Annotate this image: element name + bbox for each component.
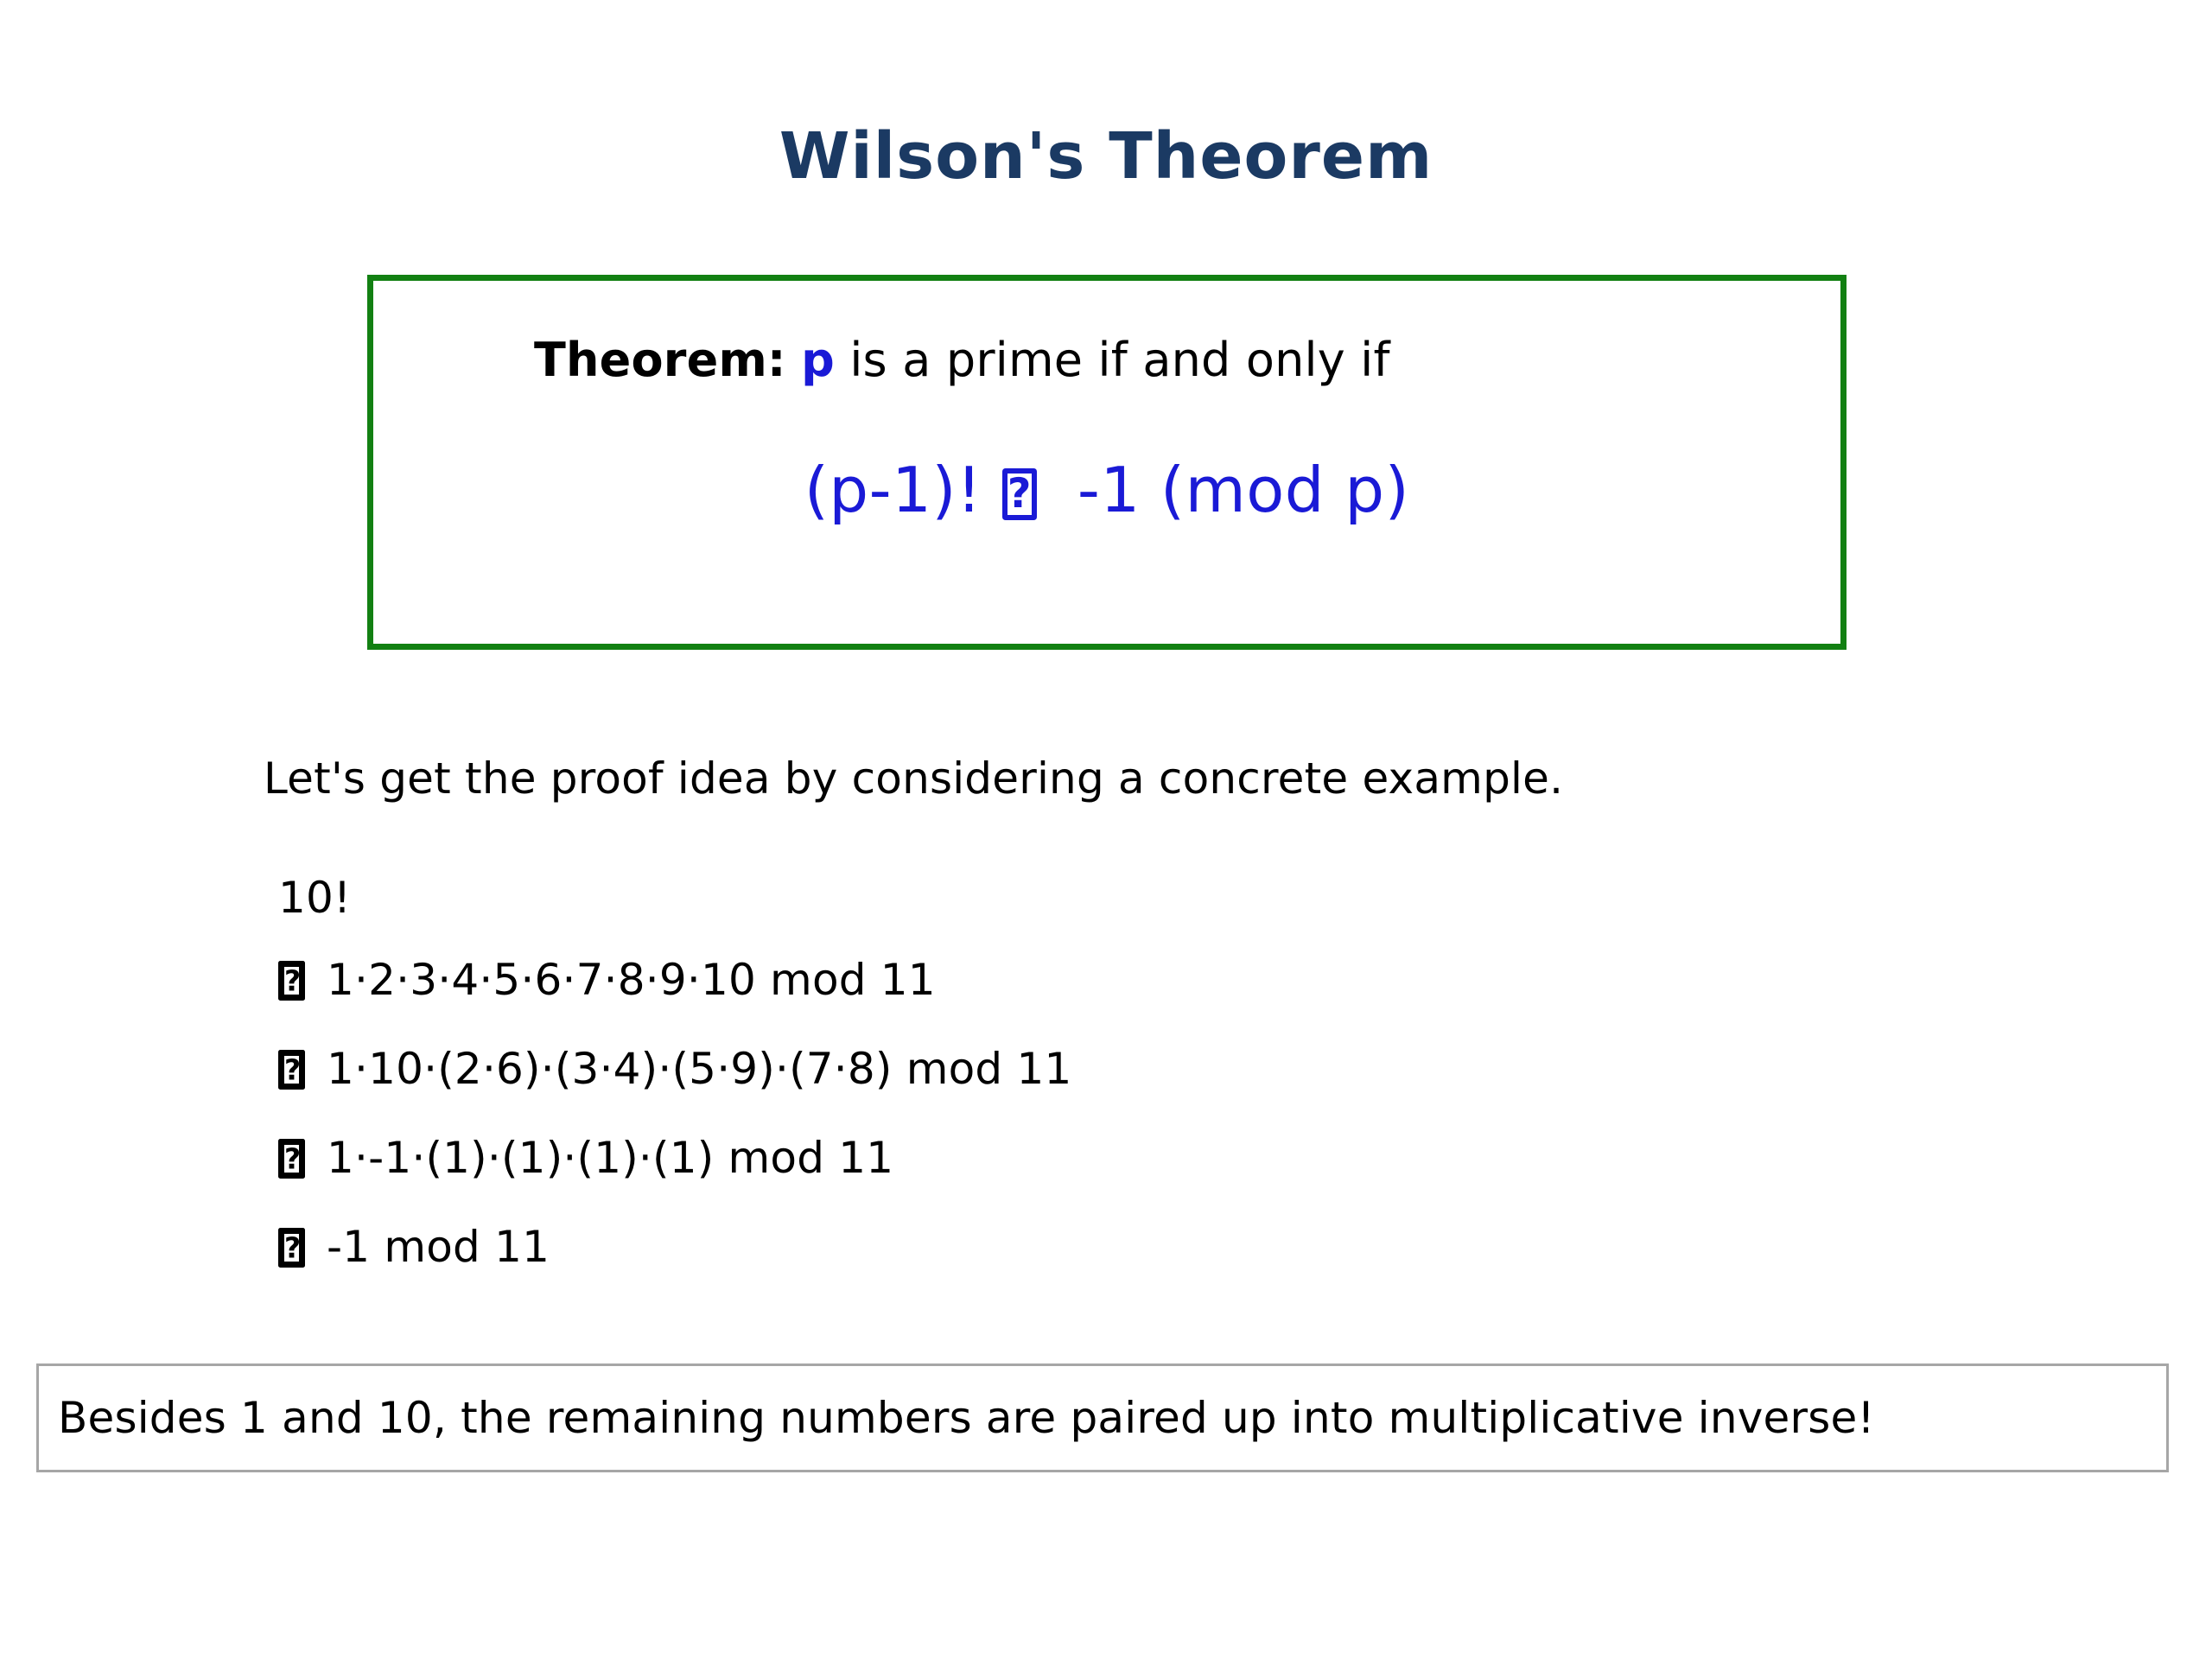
- congruence-missing-glyph-icon: [1002, 468, 1037, 520]
- lead-text: Let's get the proof idea by considering …: [264, 753, 1563, 804]
- theorem-variable-p: p: [801, 333, 835, 387]
- derivation-expression: 10!: [278, 860, 351, 936]
- derivation-expression: -1 mod 11: [327, 1203, 550, 1292]
- formula-left-side: (p-1)!: [804, 454, 982, 526]
- slide-canvas: Wilson's Theorem Theorem: p is a prime i…: [0, 0, 2212, 1659]
- theorem-box: Theorem: p is a prime if and only if (p-…: [367, 275, 1847, 650]
- page-title: Wilson's Theorem: [0, 119, 2212, 194]
- congruence-missing-glyph-icon: [278, 1228, 305, 1268]
- derivation-row: 1·2·3·4·5·6·7·8·9·10 mod 11: [278, 936, 1071, 1025]
- theorem-statement: Theorem: p is a prime if and only if: [534, 333, 1390, 387]
- derivation-row: -1 mod 11: [278, 1203, 1071, 1292]
- derivation-row: 10!: [278, 860, 1071, 936]
- derivation-symbol: [278, 936, 327, 1025]
- derivation-list: 10! 1·2·3·4·5·6·7·8·9·10 mod 11 1·10·(2·…: [278, 860, 1071, 1292]
- derivation-expression: 1·-1·(1)·(1)·(1)·(1) mod 11: [327, 1114, 893, 1203]
- derivation-expression: 1·10·(2·6)·(3·4)·(5·9)·(7·8) mod 11: [327, 1025, 1071, 1114]
- callout-box: Besides 1 and 10, the remaining numbers …: [36, 1363, 2169, 1472]
- derivation-row: 1·10·(2·6)·(3·4)·(5·9)·(7·8) mod 11: [278, 1025, 1071, 1114]
- theorem-formula: (p-1)! -1 (mod p): [373, 454, 1840, 526]
- congruence-missing-glyph-icon: [278, 1139, 305, 1179]
- derivation-symbol: [278, 1203, 327, 1292]
- theorem-statement-rest: is a prime if and only if: [835, 333, 1390, 387]
- congruence-missing-glyph-icon: [278, 961, 305, 1001]
- derivation-symbol: [278, 1025, 327, 1114]
- theorem-label: Theorem:: [534, 333, 786, 387]
- congruence-missing-glyph-icon: [278, 1050, 305, 1090]
- callout-text: Besides 1 and 10, the remaining numbers …: [58, 1393, 1875, 1443]
- derivation-row: 1·-1·(1)·(1)·(1)·(1) mod 11: [278, 1114, 1071, 1203]
- derivation-symbol: [278, 1114, 327, 1203]
- formula-right-side: -1 (mod p): [1077, 454, 1409, 526]
- derivation-expression: 1·2·3·4·5·6·7·8·9·10 mod 11: [327, 936, 936, 1025]
